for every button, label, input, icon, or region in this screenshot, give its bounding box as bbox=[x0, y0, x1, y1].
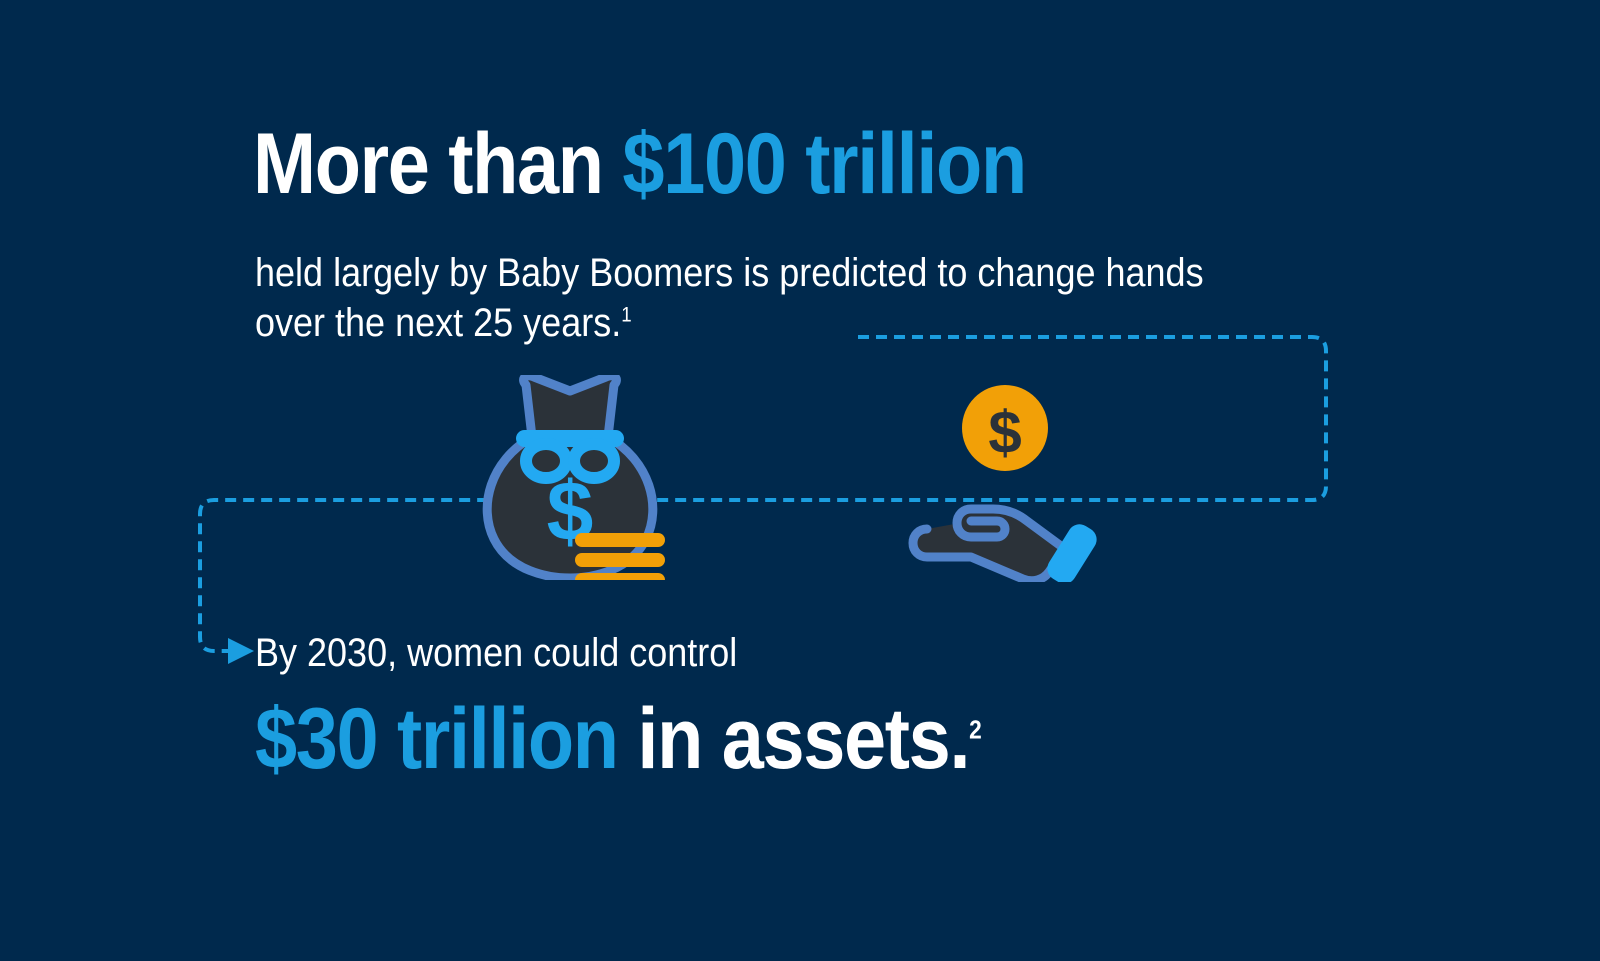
coin-bar-middle bbox=[575, 553, 665, 567]
subheadline: held largely by Baby Boomers is predicte… bbox=[255, 248, 1227, 348]
headline-accent-amount: $100 trillion bbox=[622, 116, 1025, 212]
arrow-head-icon bbox=[228, 638, 254, 664]
lower-footnote-marker: 2 bbox=[969, 716, 980, 744]
infographic-canvas: More than $100 trillion held largely by … bbox=[0, 0, 1600, 961]
hand-palm-shape bbox=[913, 509, 1065, 581]
gold-coin-icon: $ bbox=[962, 385, 1048, 471]
page-title: More than $100 trillion bbox=[253, 118, 1026, 210]
connector-dashed-path bbox=[200, 337, 1326, 651]
lower-headline: $30 trillion in assets.2 bbox=[255, 690, 980, 788]
money-bag-neck bbox=[524, 376, 617, 437]
money-bag-icon: $ bbox=[470, 375, 670, 580]
headline-prefix: More than bbox=[253, 116, 622, 212]
coin-bar-bottom bbox=[575, 573, 665, 580]
open-hand-icon bbox=[905, 487, 1105, 582]
lower-accent-amount: $30 trillion bbox=[255, 691, 618, 787]
coin-bar-top bbox=[575, 533, 665, 547]
subheadline-footnote-marker: 1 bbox=[621, 304, 631, 327]
coin-dollar-glyph: $ bbox=[988, 399, 1021, 466]
lower-lead-text: By 2030, women could control bbox=[255, 629, 737, 677]
lower-plain-suffix: in assets. bbox=[618, 691, 969, 787]
subheadline-text: held largely by Baby Boomers is predicte… bbox=[255, 251, 1204, 345]
